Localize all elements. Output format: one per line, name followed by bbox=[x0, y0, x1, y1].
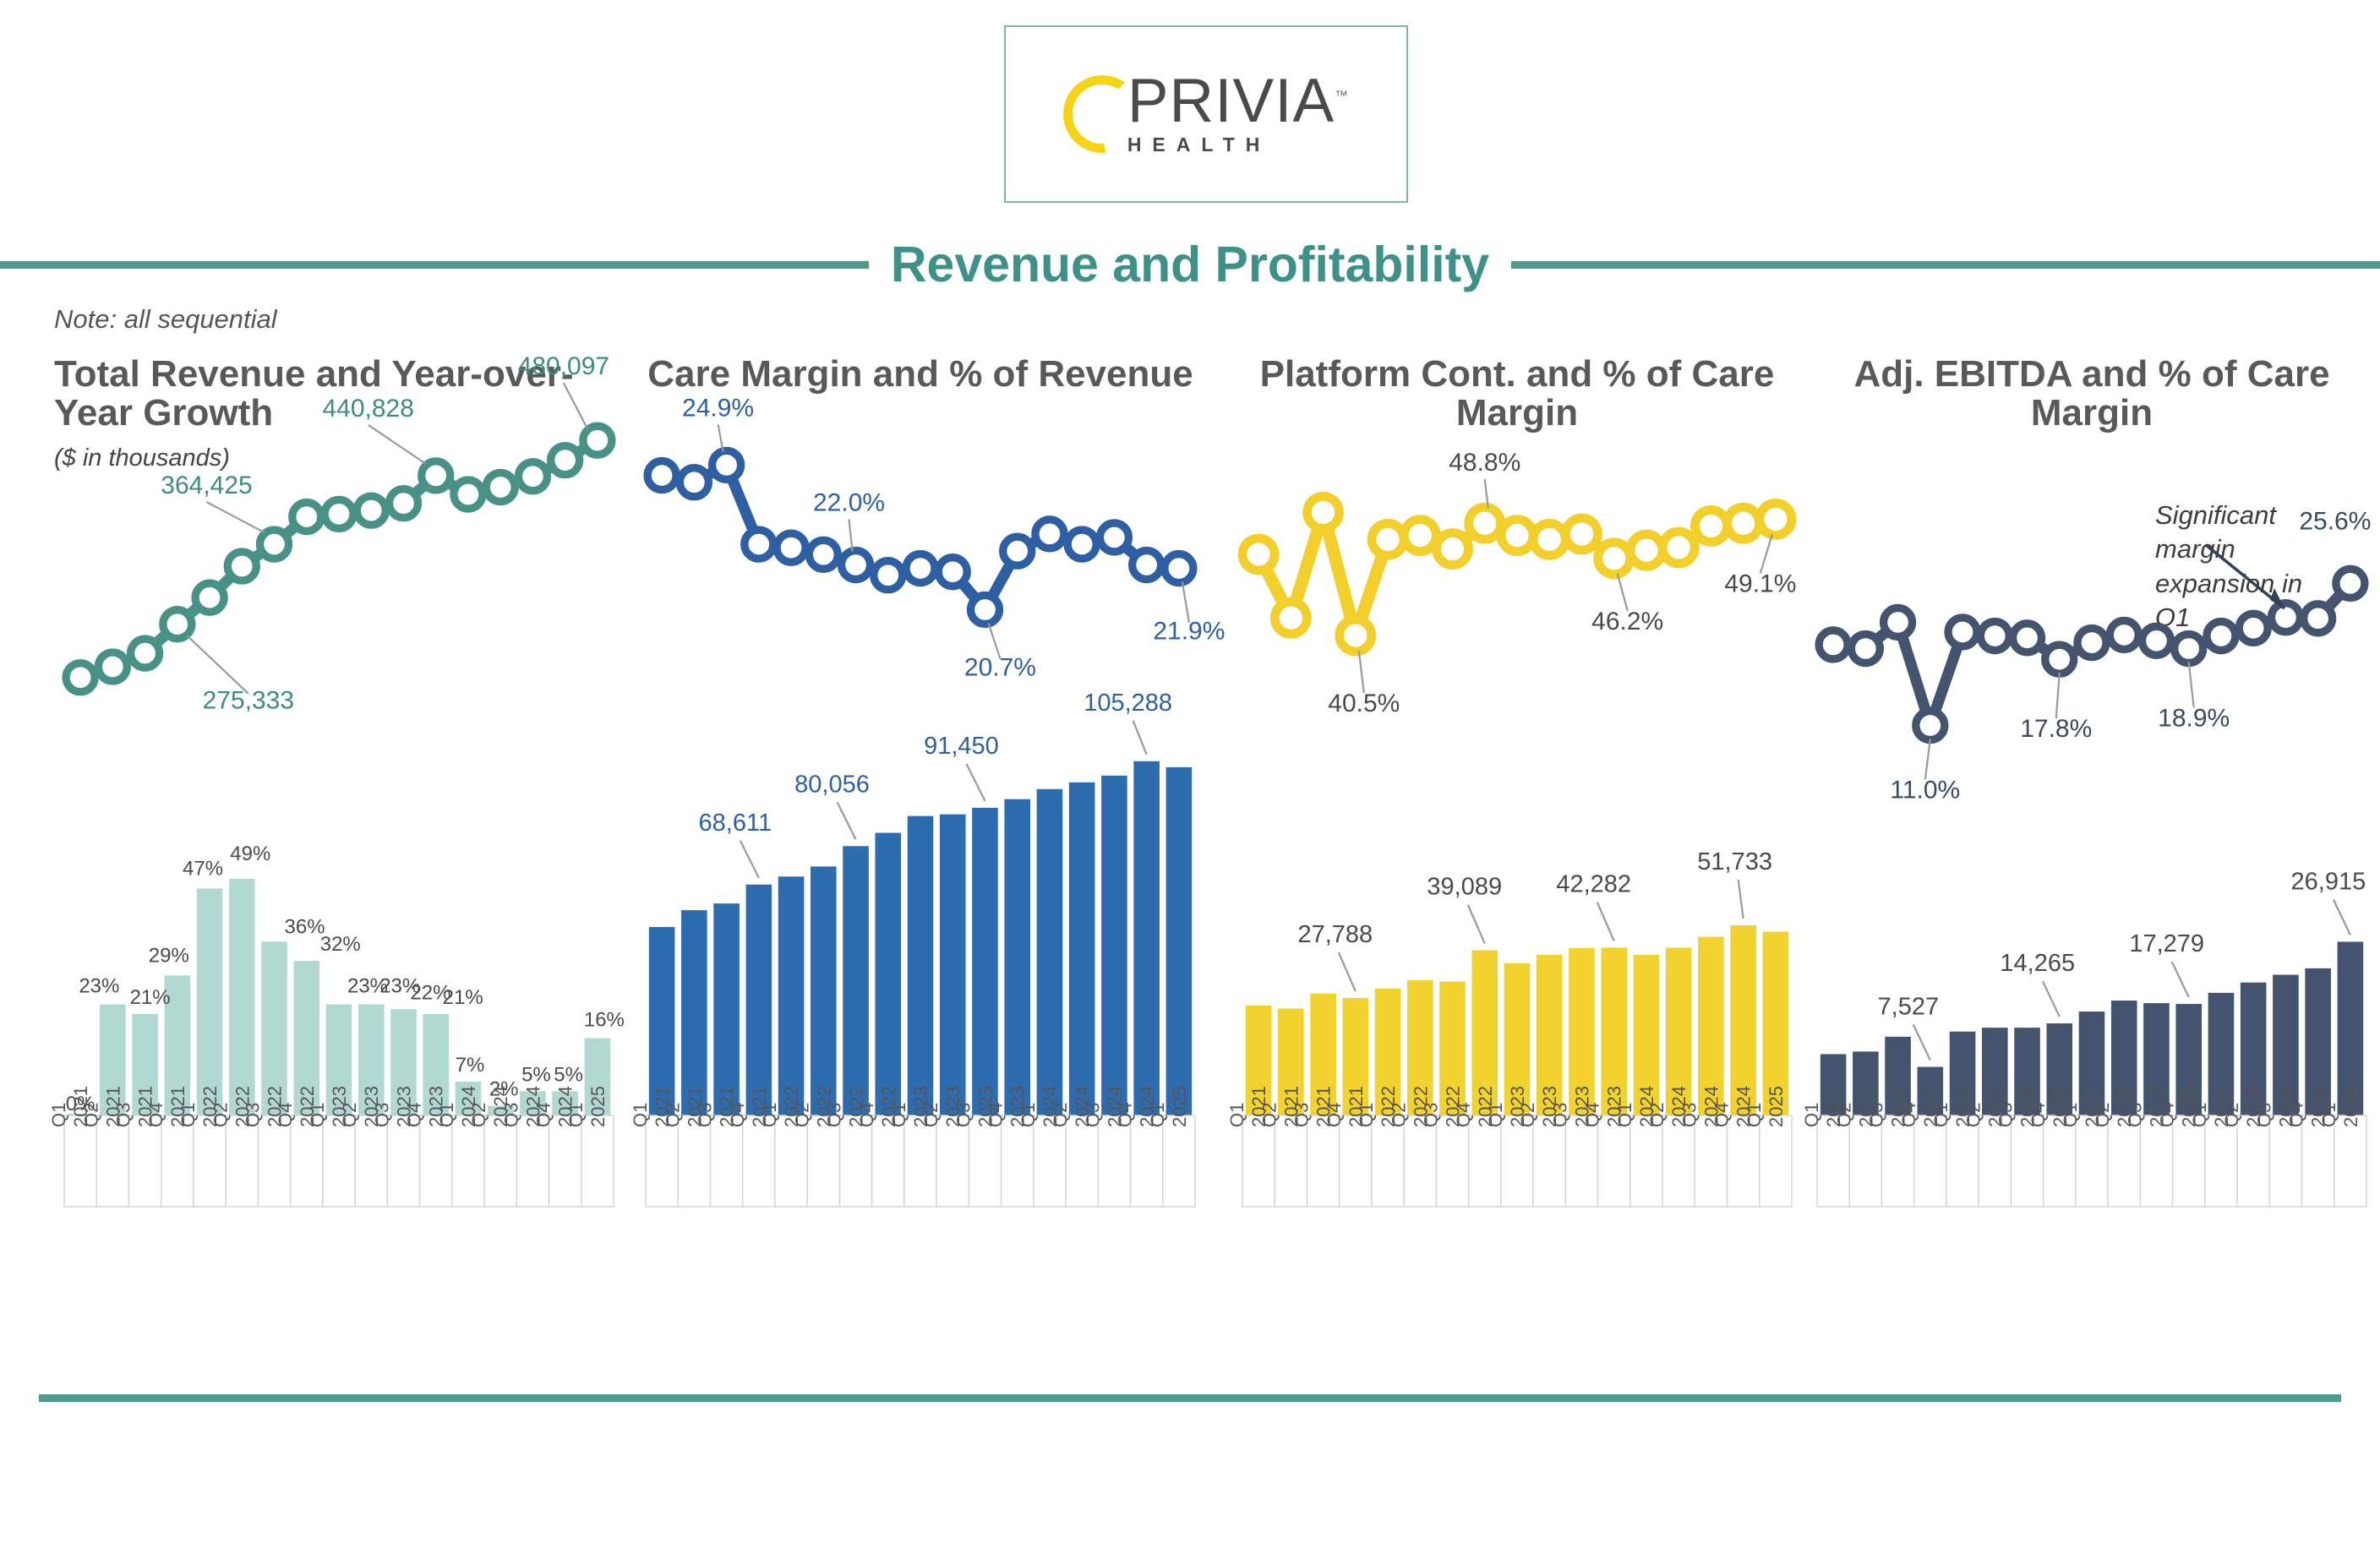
brand-logo: PRIVIA™ HEALTH bbox=[1004, 25, 1408, 203]
line-series bbox=[647, 450, 1193, 624]
line-marker bbox=[874, 561, 903, 590]
line-marker bbox=[2013, 624, 2042, 652]
growth-pct-label: 5% bbox=[521, 1063, 551, 1086]
axis-quarter-label: Q3 bbox=[824, 1103, 845, 1127]
page-title: Revenue and Profitability bbox=[869, 236, 1511, 293]
leader-line bbox=[2172, 962, 2189, 997]
leader-line bbox=[838, 802, 856, 839]
line-marker bbox=[1598, 543, 1630, 575]
ebitda-value-label: 26,915 bbox=[2291, 868, 2366, 895]
platform-pct-label: 49.1% bbox=[1724, 570, 1796, 597]
growth-pct-label: 5% bbox=[554, 1063, 583, 1086]
axis-quarter-label: Q3 bbox=[243, 1103, 264, 1127]
leader-line bbox=[1339, 952, 1356, 991]
growth-pct-label: 16% bbox=[584, 1009, 625, 1032]
axis-quarter-label: Q2 bbox=[339, 1103, 360, 1127]
axis-quarter-label: Q3 bbox=[1995, 1103, 2017, 1127]
axis-quarter-label: Q2 bbox=[791, 1103, 812, 1127]
axis-quarter-label: Q4 bbox=[727, 1103, 748, 1127]
line-marker bbox=[1100, 523, 1128, 552]
platform-value-label: 39,089 bbox=[1427, 874, 1502, 901]
line-marker bbox=[163, 610, 192, 639]
axis-quarter-label: Q2 bbox=[2092, 1103, 2113, 1127]
care-margin-pct-label: 24.9% bbox=[682, 394, 754, 422]
line-marker bbox=[680, 468, 708, 497]
axis-quarter-label: Q3 bbox=[1679, 1103, 1700, 1127]
title-rule-left bbox=[0, 261, 869, 269]
line-marker bbox=[1884, 608, 1913, 636]
axis-quarter-label: Q1 bbox=[177, 1103, 199, 1127]
leader-line bbox=[2043, 981, 2060, 1017]
line-marker bbox=[131, 639, 160, 668]
line-marker bbox=[1980, 622, 2009, 651]
line-marker bbox=[2271, 603, 2300, 632]
leader-line bbox=[207, 502, 265, 532]
axis-quarter-label: Q3 bbox=[1549, 1103, 1570, 1127]
revenue-value-label: 440,828 bbox=[322, 395, 413, 423]
line-marker bbox=[227, 552, 256, 581]
axis-year-label: 2025 bbox=[1169, 1086, 1190, 1127]
axis-quarter-label: Q3 bbox=[1291, 1103, 1313, 1127]
axis-year-label: 2025 bbox=[2340, 1086, 2361, 1127]
line-marker bbox=[389, 489, 418, 518]
axis-quarter-label: Q2 bbox=[2221, 1103, 2242, 1127]
chart-svg-2: 40.5%48.8%46.2%49.1%27,78839,08942,28251… bbox=[1225, 355, 1809, 1335]
panel-platform-contribution: Platform Cont. and % of Care Margin 40.5… bbox=[1225, 355, 1809, 1335]
axis-quarter-label: Q3 bbox=[113, 1103, 134, 1127]
line-marker bbox=[745, 530, 773, 559]
platform-pct-label: 46.2% bbox=[1591, 608, 1663, 635]
platform-value-label: 51,733 bbox=[1697, 848, 1772, 875]
line-marker bbox=[260, 530, 289, 559]
axis-quarter-label: Q2 bbox=[210, 1103, 231, 1127]
axis-quarter-label: Q1 bbox=[1018, 1103, 1039, 1127]
growth-pct-label: 23% bbox=[79, 975, 119, 998]
axis-quarter-label: Q1 bbox=[888, 1103, 909, 1127]
chart-area-0: 275,333364,425440,828480,0970%23%21%29%4… bbox=[47, 355, 630, 1335]
line-marker bbox=[1948, 618, 1977, 646]
axis-year-label: 2025 bbox=[587, 1086, 609, 1127]
axis-quarter-label: Q2 bbox=[1517, 1103, 1538, 1127]
bar bbox=[1037, 789, 1063, 1115]
axis-quarter-label: Q1 bbox=[565, 1103, 587, 1127]
line-marker bbox=[1437, 533, 1469, 565]
line-marker bbox=[712, 450, 741, 479]
platform-pct-label: 48.8% bbox=[1449, 449, 1520, 477]
bar bbox=[713, 903, 740, 1115]
leader-line bbox=[368, 425, 426, 464]
line-marker bbox=[98, 652, 127, 681]
axis-quarter-label: Q2 bbox=[662, 1103, 683, 1127]
growth-pct-label: 21% bbox=[130, 986, 171, 1009]
leader-line bbox=[2334, 899, 2350, 935]
growth-pct-label: 21% bbox=[443, 986, 483, 1009]
x-axis: 2021Q12021Q22021Q32021Q42022Q12022Q22022… bbox=[48, 1086, 614, 1207]
line-series bbox=[1819, 569, 2365, 739]
line-marker bbox=[1916, 711, 1945, 739]
line-marker bbox=[357, 496, 385, 525]
axis-quarter-label: Q4 bbox=[275, 1103, 296, 1127]
axis-quarter-label: Q4 bbox=[533, 1103, 554, 1127]
platform-pct-label: 40.5% bbox=[1328, 690, 1400, 717]
axis-quarter-label: Q1 bbox=[1147, 1103, 1168, 1127]
line-marker bbox=[777, 533, 805, 562]
line-marker bbox=[1728, 507, 1760, 539]
axis-quarter-label: Q2 bbox=[1050, 1103, 1071, 1127]
ebitda-value-label: 14,265 bbox=[2000, 950, 2075, 977]
line-marker bbox=[2110, 620, 2138, 649]
axis-quarter-label: Q2 bbox=[80, 1103, 101, 1127]
line-marker bbox=[551, 446, 580, 475]
line-marker bbox=[66, 663, 95, 692]
growth-pct-label: 7% bbox=[456, 1054, 485, 1077]
axis-quarter-label: Q2 bbox=[1258, 1103, 1280, 1127]
x-axis: 2021Q12021Q22021Q32021Q42022Q12022Q22022… bbox=[630, 1086, 1195, 1207]
leader-line bbox=[1468, 905, 1485, 944]
axis-quarter-label: Q1 bbox=[1930, 1103, 1951, 1127]
bar bbox=[843, 846, 869, 1115]
care-margin-value-label: 80,056 bbox=[794, 771, 870, 798]
line-marker bbox=[2077, 629, 2106, 657]
bar bbox=[972, 808, 998, 1115]
line-marker bbox=[2142, 626, 2170, 655]
line-marker bbox=[1533, 523, 1565, 555]
line-series bbox=[66, 426, 612, 692]
ebitda-pct-label: 25.6% bbox=[2299, 507, 2371, 535]
leader-line bbox=[1597, 902, 1614, 941]
line-marker bbox=[1469, 507, 1501, 539]
sequential-note: Note: all sequential bbox=[54, 304, 277, 335]
axis-quarter-label: Q4 bbox=[1453, 1103, 1474, 1127]
line-marker bbox=[1275, 602, 1307, 634]
logo-sub-text: HEALTH bbox=[1127, 134, 1271, 156]
axis-quarter-label: Q3 bbox=[1082, 1103, 1103, 1127]
ebitda-value-label: 7,527 bbox=[1878, 994, 1940, 1021]
growth-pct-label: 29% bbox=[149, 944, 189, 967]
axis-quarter-label: Q1 bbox=[436, 1103, 457, 1127]
chart-svg-3: 11.0%17.8%18.9%25.6%7,52714,26517,27926,… bbox=[1800, 355, 2380, 1335]
line-marker bbox=[1067, 530, 1096, 559]
bar bbox=[778, 876, 805, 1115]
line-marker bbox=[1501, 520, 1533, 552]
bar bbox=[908, 816, 934, 1115]
line-marker bbox=[2239, 613, 2268, 642]
bar bbox=[940, 815, 966, 1115]
leader-line bbox=[564, 383, 587, 428]
axis-quarter-label: Q1 bbox=[1801, 1103, 1822, 1127]
revenue-value-label: 275,333 bbox=[203, 687, 294, 715]
logo-brand-text: PRIVIA bbox=[1127, 67, 1335, 135]
leader-line bbox=[966, 764, 985, 801]
panel-care-margin: Care Margin and % of Revenue 24.9%22.0%2… bbox=[629, 355, 1212, 1335]
logo-wordmark: PRIVIA™ HEALTH bbox=[1127, 72, 1349, 156]
line-marker bbox=[2045, 645, 2074, 673]
ebitda-value-label: 17,279 bbox=[2129, 930, 2204, 957]
line-series bbox=[1242, 496, 1792, 652]
axis-quarter-label: Q3 bbox=[2253, 1103, 2274, 1127]
line-marker bbox=[2336, 569, 2365, 597]
axis-quarter-label: Q3 bbox=[695, 1103, 716, 1127]
leader-line bbox=[1359, 651, 1364, 693]
revenue-value-label: 364,425 bbox=[161, 472, 252, 499]
leader-line bbox=[849, 520, 853, 552]
axis-quarter-label: Q3 bbox=[1421, 1103, 1442, 1127]
line-marker bbox=[1565, 518, 1597, 550]
bar bbox=[229, 879, 255, 1115]
leader-line bbox=[1760, 534, 1772, 573]
line-marker bbox=[2304, 604, 2333, 633]
axis-quarter-label: Q1 bbox=[1744, 1103, 1765, 1127]
axis-quarter-label: Q1 bbox=[2060, 1103, 2081, 1127]
leader-line bbox=[1133, 721, 1147, 755]
line-marker bbox=[938, 558, 967, 586]
axis-quarter-label: Q1 bbox=[48, 1103, 69, 1127]
axis-year-label: 2025 bbox=[1766, 1086, 1787, 1127]
line-marker bbox=[1307, 496, 1340, 528]
axis-quarter-label: Q4 bbox=[1324, 1103, 1345, 1127]
axis-quarter-label: Q3 bbox=[1866, 1103, 1887, 1127]
bar bbox=[1004, 799, 1030, 1115]
axis-quarter-label: Q3 bbox=[371, 1103, 392, 1127]
axis-quarter-label: Q2 bbox=[1962, 1103, 1984, 1127]
axis-quarter-label: Q2 bbox=[1833, 1103, 1854, 1127]
line-marker bbox=[195, 583, 224, 612]
trademark-symbol: ™ bbox=[1335, 90, 1349, 104]
bar bbox=[197, 888, 223, 1115]
care-margin-pct-label: 20.7% bbox=[964, 653, 1036, 681]
leader-line bbox=[718, 424, 723, 451]
leader-line bbox=[2189, 663, 2194, 708]
leader-line bbox=[188, 636, 248, 694]
axis-quarter-label: Q1 bbox=[1356, 1103, 1377, 1127]
line-marker bbox=[1819, 630, 1848, 659]
line-marker bbox=[1630, 534, 1662, 566]
axis-quarter-label: Q2 bbox=[1388, 1103, 1409, 1127]
axis-quarter-label: Q1 bbox=[2189, 1103, 2210, 1127]
leader-line bbox=[1925, 739, 1930, 779]
bar bbox=[811, 866, 837, 1115]
line-marker bbox=[1404, 520, 1436, 552]
line-marker bbox=[1003, 537, 1032, 565]
bar bbox=[1101, 776, 1127, 1115]
line-marker bbox=[518, 462, 547, 491]
x-axis: 2021Q12021Q22021Q32021Q42022Q12022Q22022… bbox=[1226, 1086, 1792, 1207]
axis-quarter-label: Q4 bbox=[1711, 1103, 1733, 1127]
page-title-row: Revenue and Profitability bbox=[0, 238, 2380, 291]
axis-quarter-label: Q3 bbox=[500, 1103, 521, 1127]
line-marker bbox=[292, 503, 321, 532]
annotation-arrow bbox=[2206, 545, 2284, 608]
leader-line bbox=[1913, 1025, 1930, 1061]
axis-quarter-label: Q4 bbox=[985, 1103, 1007, 1127]
line-marker bbox=[1242, 538, 1275, 570]
bar bbox=[875, 833, 901, 1115]
line-marker bbox=[809, 540, 838, 569]
axis-quarter-label: Q4 bbox=[2028, 1103, 2049, 1127]
line-marker bbox=[1340, 619, 1372, 652]
line-marker bbox=[325, 499, 353, 528]
platform-value-label: 42,282 bbox=[1556, 871, 1631, 898]
chart-svg-1: 24.9%22.0%20.7%21.9%68,61180,05691,45010… bbox=[629, 355, 1212, 1335]
leader-line bbox=[2056, 673, 2060, 718]
revenue-value-label: 480,097 bbox=[518, 352, 609, 380]
footer-rule bbox=[39, 1394, 2341, 1402]
bar bbox=[1069, 782, 1095, 1115]
axis-quarter-label: Q1 bbox=[2318, 1103, 2339, 1127]
chart-area-1: 24.9%22.0%20.7%21.9%68,61180,05691,45010… bbox=[629, 355, 1212, 1335]
care-margin-value-label: 68,611 bbox=[699, 810, 772, 837]
axis-quarter-label: Q3 bbox=[953, 1103, 974, 1127]
ebitda-pct-label: 18.9% bbox=[2158, 705, 2230, 733]
leader-line bbox=[1618, 574, 1628, 611]
line-marker bbox=[1695, 510, 1727, 542]
axis-quarter-label: Q2 bbox=[920, 1103, 942, 1127]
growth-pct-label: 32% bbox=[320, 933, 361, 956]
line-marker bbox=[1851, 635, 1880, 663]
care-margin-value-label: 105,288 bbox=[1084, 690, 1172, 717]
axis-quarter-label: Q1 bbox=[630, 1103, 651, 1127]
axis-quarter-label: Q2 bbox=[1646, 1103, 1668, 1127]
ebitda-pct-label: 17.8% bbox=[2020, 715, 2092, 743]
axis-quarter-label: Q4 bbox=[2286, 1103, 2307, 1127]
growth-pct-label: 49% bbox=[230, 842, 270, 865]
title-rule-right bbox=[1511, 261, 2380, 269]
axis-quarter-label: Q1 bbox=[759, 1103, 780, 1127]
platform-value-label: 27,788 bbox=[1297, 921, 1373, 948]
line-marker bbox=[1035, 520, 1064, 548]
panel-total-revenue: Total Revenue and Year-over-Year Growth … bbox=[47, 355, 630, 1335]
chart-area-3: 11.0%17.8%18.9%25.6%7,52714,26517,27926,… bbox=[1800, 355, 2380, 1335]
bar bbox=[746, 885, 772, 1115]
axis-quarter-label: Q1 bbox=[1614, 1103, 1635, 1127]
care-margin-pct-label: 22.0% bbox=[813, 489, 885, 517]
line-marker bbox=[2175, 635, 2203, 663]
bar bbox=[1133, 761, 1160, 1115]
panel-adj-ebitda: Adj. EBITDA and % of Care Margin Signifi… bbox=[1800, 355, 2380, 1335]
line-marker bbox=[1165, 554, 1193, 583]
leader-line bbox=[1182, 582, 1189, 623]
x-axis: 2021Q12021Q22021Q32021Q42022Q12022Q22022… bbox=[1801, 1086, 2366, 1207]
axis-quarter-label: Q1 bbox=[1226, 1103, 1247, 1127]
line-marker bbox=[842, 551, 871, 580]
axis-quarter-label: Q4 bbox=[1898, 1103, 1919, 1127]
line-marker bbox=[422, 461, 450, 490]
bar bbox=[681, 910, 707, 1115]
leader-line bbox=[740, 841, 759, 878]
ebitda-pct-label: 11.0% bbox=[1890, 776, 1960, 804]
care-margin-value-label: 91,450 bbox=[924, 733, 999, 760]
line-marker bbox=[2207, 622, 2235, 651]
axis-quarter-label: Q4 bbox=[2157, 1103, 2178, 1127]
axis-quarter-label: Q2 bbox=[468, 1103, 489, 1127]
line-marker bbox=[486, 473, 515, 502]
axis-quarter-label: Q4 bbox=[145, 1103, 166, 1127]
line-marker bbox=[647, 461, 676, 490]
axis-quarter-label: Q4 bbox=[1115, 1103, 1136, 1127]
axis-quarter-label: Q1 bbox=[307, 1103, 328, 1127]
line-marker bbox=[906, 554, 935, 583]
line-marker bbox=[1372, 523, 1404, 555]
bar bbox=[1166, 767, 1193, 1115]
line-marker bbox=[1133, 551, 1161, 580]
chart-area-2: 40.5%48.8%46.2%49.1%27,78839,08942,28251… bbox=[1225, 355, 1809, 1335]
line-marker bbox=[583, 426, 612, 455]
chart-svg-0: 275,333364,425440,828480,0970%23%21%29%4… bbox=[47, 355, 630, 1335]
axis-quarter-label: Q4 bbox=[404, 1103, 425, 1127]
growth-pct-label: 36% bbox=[285, 915, 325, 938]
growth-pct-label: 47% bbox=[183, 857, 223, 880]
line-marker bbox=[970, 595, 999, 624]
line-marker bbox=[1662, 532, 1695, 564]
axis-quarter-label: Q4 bbox=[856, 1103, 877, 1127]
axis-quarter-label: Q1 bbox=[1485, 1103, 1506, 1127]
leader-line bbox=[1739, 880, 1744, 919]
line-marker bbox=[454, 480, 483, 509]
axis-quarter-label: Q4 bbox=[1582, 1103, 1603, 1127]
axis-quarter-label: Q3 bbox=[2124, 1103, 2145, 1127]
care-margin-pct-label: 21.9% bbox=[1153, 618, 1225, 646]
line-marker bbox=[1760, 503, 1792, 535]
